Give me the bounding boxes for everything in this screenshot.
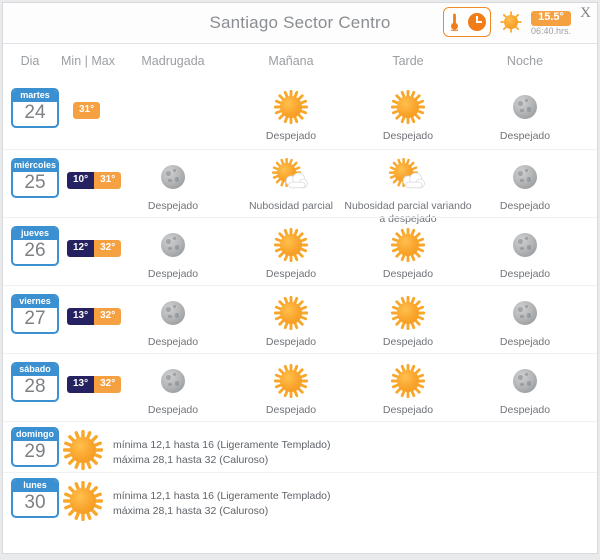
weather-icon xyxy=(460,224,590,266)
weather-icon xyxy=(460,292,590,334)
extended-forecast-row: domingo29mínima 12,1 hasta 16 (Ligeramen… xyxy=(3,421,597,472)
weather-icon xyxy=(226,292,356,334)
day-badge[interactable]: lunes30 xyxy=(11,478,59,518)
day-name: miércoles xyxy=(13,160,57,172)
moon-icon xyxy=(161,165,185,189)
weather-icon xyxy=(460,156,590,198)
window-header: Santiago Sector Centro xyxy=(3,3,597,44)
column-header-min-max: Min | Max xyxy=(61,54,115,68)
forecast-cell-noche: Despejado xyxy=(460,360,590,417)
min-temperature: 13° xyxy=(67,376,94,393)
column-header-ma-ana: Mañana xyxy=(268,54,313,68)
day-name: domingo xyxy=(13,429,57,441)
max-temperature: 31° xyxy=(73,102,100,119)
forecast-cell-madrugada: Despejado xyxy=(108,156,238,213)
day-name: jueves xyxy=(13,228,57,240)
sun-icon xyxy=(274,296,308,330)
forecast-cell-tarde: Nubosidad parcial variando a despejado xyxy=(343,156,473,226)
observation-time: 06:40.hrs. xyxy=(531,27,571,36)
weather-caption: Despejado xyxy=(343,130,473,143)
header-status-group: 15.5° 06:40.hrs. xyxy=(443,7,571,37)
sun-icon xyxy=(391,90,425,124)
forecast-cell-madrugada: Despejado xyxy=(108,292,238,349)
weather-caption: Despejado xyxy=(460,336,590,349)
day-badge[interactable]: domingo29 xyxy=(11,427,59,467)
sun-core xyxy=(70,488,96,514)
day-badge[interactable]: sábado28 xyxy=(11,362,59,402)
forecast-row: martes2431°DespejadoDespejadoDespejado xyxy=(3,80,597,149)
day-name: martes xyxy=(13,90,57,102)
sun-core xyxy=(280,234,302,256)
weather-caption: Despejado xyxy=(343,404,473,417)
weather-icon xyxy=(343,156,473,198)
temperature-value: 15.5° xyxy=(531,11,571,26)
weather-icon xyxy=(226,86,356,128)
forecast-cell-madrugada xyxy=(108,86,238,130)
moon-icon xyxy=(513,369,537,393)
weather-icon xyxy=(108,360,238,402)
sun-core xyxy=(280,370,302,392)
moon-icon xyxy=(161,369,185,393)
weather-icon xyxy=(343,86,473,128)
weather-icon xyxy=(460,86,590,128)
weather-caption: Despejado xyxy=(226,336,356,349)
weather-caption: Despejado xyxy=(460,404,590,417)
clock-glyph xyxy=(468,13,486,31)
sun-core xyxy=(70,437,96,463)
column-header-dia: Dia xyxy=(21,54,40,68)
weather-icon xyxy=(343,224,473,266)
forecast-cell-tarde: Despejado xyxy=(343,86,473,143)
column-header-noche: Noche xyxy=(507,54,543,68)
weather-icon xyxy=(460,360,590,402)
day-badge[interactable]: martes24 xyxy=(11,88,59,128)
moon-icon xyxy=(513,301,537,325)
sun-cloud-icon xyxy=(274,160,308,194)
close-icon[interactable]: X xyxy=(580,5,591,22)
column-header-madrugada: Madrugada xyxy=(141,54,204,68)
weather-caption: Despejado xyxy=(108,404,238,417)
moon-icon xyxy=(161,233,185,257)
cloud-glyph xyxy=(283,172,308,191)
weather-icon xyxy=(226,224,356,266)
day-name: sábado xyxy=(13,364,57,376)
current-temperature: 15.5° 06:40.hrs. xyxy=(531,8,571,36)
forecast-cell-mañana: Despejado xyxy=(226,86,356,143)
sun-icon xyxy=(274,364,308,398)
day-name: lunes xyxy=(13,480,57,492)
day-badge[interactable]: miércoles25 xyxy=(11,158,59,198)
moon-icon xyxy=(513,233,537,257)
sun-core xyxy=(397,302,419,324)
weather-icon xyxy=(63,430,105,472)
day-badge[interactable]: jueves26 xyxy=(11,226,59,266)
forecast-cell-madrugada: Despejado xyxy=(108,360,238,417)
day-number: 26 xyxy=(13,240,57,264)
sun-icon xyxy=(63,430,103,470)
weather-icon xyxy=(343,292,473,334)
forecast-cell-tarde: Despejado xyxy=(343,292,473,349)
forecast-row: miércoles2510°31°DespejadoNubosidad parc… xyxy=(3,149,597,217)
weather-icon xyxy=(226,360,356,402)
sun-icon xyxy=(63,481,103,521)
weather-icon xyxy=(108,156,238,198)
min-temperature: 13° xyxy=(67,308,94,325)
forecast-row: viernes2713°32°DespejadoDespejadoDespeja… xyxy=(3,285,597,353)
sun-core xyxy=(280,96,302,118)
day-name: viernes xyxy=(13,296,57,308)
day-number: 24 xyxy=(13,102,57,126)
forecast-row: jueves2612°32°DespejadoDespejadoDespejad… xyxy=(3,217,597,285)
day-number: 28 xyxy=(13,376,57,400)
sun-icon xyxy=(391,364,425,398)
sun-core xyxy=(504,15,518,29)
forecast-cell-mañana: Despejado xyxy=(226,224,356,281)
weather-caption: Despejado xyxy=(226,268,356,281)
weather-caption: Despejado xyxy=(460,200,590,213)
forecast-cell-noche: Despejado xyxy=(460,224,590,281)
weather-caption: Despejado xyxy=(108,200,238,213)
weather-caption: Despejado xyxy=(460,130,590,143)
forecast-cell-mañana: Nubosidad parcial xyxy=(226,156,356,213)
cloud-glyph xyxy=(400,172,425,191)
weather-caption: Despejado xyxy=(108,268,238,281)
weather-icon xyxy=(343,360,473,402)
forecast-cell-madrugada: Despejado xyxy=(108,224,238,281)
sun-icon xyxy=(500,11,522,33)
day-number: 27 xyxy=(13,308,57,332)
day-number: 29 xyxy=(13,441,57,465)
min-temperature: 10° xyxy=(67,172,94,189)
moon-icon xyxy=(161,301,185,325)
thermometer-clock-icon xyxy=(443,7,491,37)
moon-icon xyxy=(513,165,537,189)
column-header-tarde: Tarde xyxy=(392,54,423,68)
forecast-cell-tarde: Despejado xyxy=(343,224,473,281)
weather-caption: Despejado xyxy=(108,336,238,349)
weather-icon xyxy=(108,86,238,128)
weather-icon xyxy=(63,481,105,523)
min-max-badge: 31° xyxy=(73,102,100,119)
forecast-cell-noche: Despejado xyxy=(460,156,590,213)
forecast-cell-noche: Despejado xyxy=(460,86,590,143)
forecast-cell-tarde: Despejado xyxy=(343,360,473,417)
weather-icon xyxy=(226,156,356,198)
min-temperature: 12° xyxy=(67,240,94,257)
sun-core xyxy=(397,234,419,256)
moon-icon xyxy=(513,95,537,119)
forecast-table: martes2431°DespejadoDespejadoDespejadomi… xyxy=(3,80,597,523)
sun-cloud-icon xyxy=(391,160,425,194)
day-number: 25 xyxy=(13,172,57,196)
sun-core xyxy=(397,96,419,118)
thermometer-glyph xyxy=(451,11,458,33)
sun-core xyxy=(397,370,419,392)
weather-icon xyxy=(108,224,238,266)
forecast-cell-mañana: Despejado xyxy=(226,360,356,417)
sun-icon xyxy=(391,296,425,330)
day-number: 30 xyxy=(13,492,57,516)
sun-icon xyxy=(391,228,425,262)
weather-caption: Despejado xyxy=(460,268,590,281)
weather-caption: Despejado xyxy=(226,404,356,417)
sun-icon xyxy=(274,228,308,262)
day-badge[interactable]: viernes27 xyxy=(11,294,59,334)
weather-caption: Nubosidad parcial xyxy=(226,200,356,213)
weather-caption: Despejado xyxy=(343,336,473,349)
forecast-row: sábado2813°32°DespejadoDespejadoDespejad… xyxy=(3,353,597,421)
weather-caption: Despejado xyxy=(226,130,356,143)
extended-summary: mínima 12,1 hasta 16 (Ligeramente Templa… xyxy=(113,438,331,468)
weather-window: Santiago Sector Centro xyxy=(2,2,598,554)
extended-summary: mínima 12,1 hasta 16 (Ligeramente Templa… xyxy=(113,489,331,519)
sun-icon xyxy=(274,90,308,124)
weather-icon xyxy=(108,292,238,334)
weather-caption: Despejado xyxy=(343,268,473,281)
forecast-cell-noche: Despejado xyxy=(460,292,590,349)
table-column-headers: DiaMin | MaxMadrugadaMañanaTardeNoche xyxy=(3,54,597,80)
extended-forecast-row: lunes30mínima 12,1 hasta 16 (Ligeramente… xyxy=(3,472,597,523)
forecast-cell-mañana: Despejado xyxy=(226,292,356,349)
sun-core xyxy=(280,302,302,324)
